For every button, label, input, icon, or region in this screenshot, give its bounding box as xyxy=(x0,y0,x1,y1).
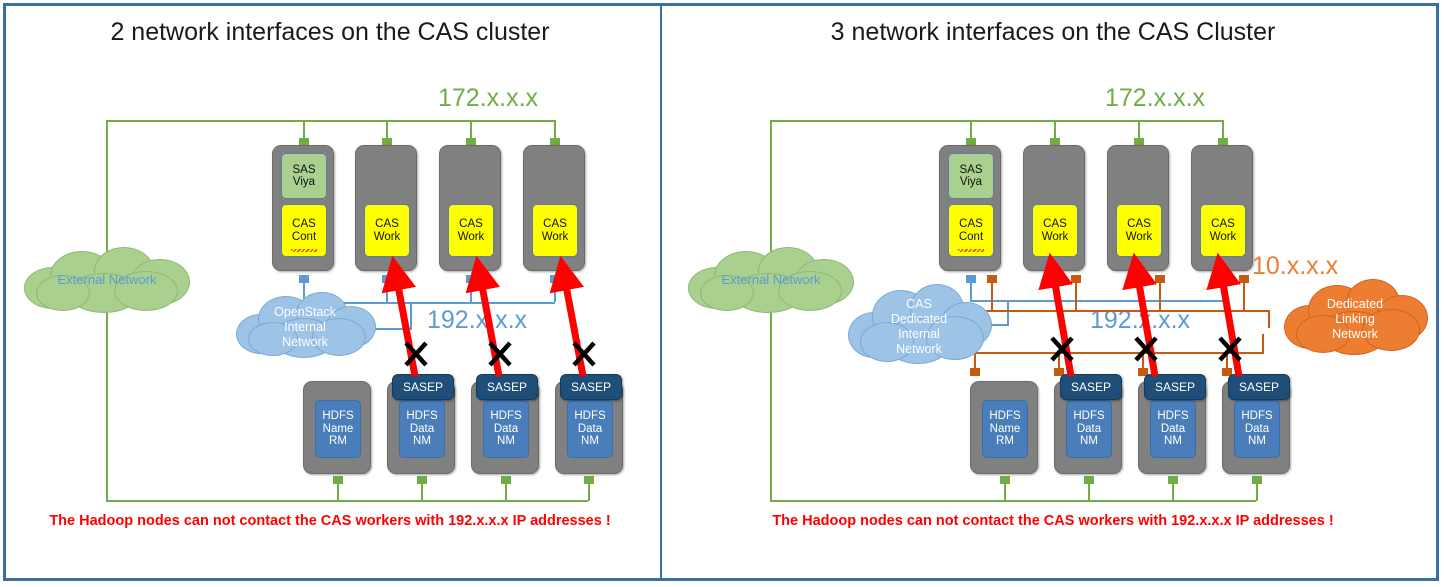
page-title-left: 2 network interfaces on the CAS cluster xyxy=(0,18,660,47)
orange-riser-cas-4 xyxy=(1243,283,1245,310)
sasep-tab-right-1[interactable]: SASEP xyxy=(1060,374,1122,400)
hdfs-data-chip-left-1: HDFS Data NM xyxy=(399,400,445,458)
dedicated-cloud-line: Network xyxy=(1332,327,1378,342)
dedicated-linking-network-cloud-right[interactable]: Dedicated Linking Network xyxy=(1282,277,1428,361)
green-arrow-up-h2-right xyxy=(1084,476,1094,484)
chip-line: Data xyxy=(578,423,602,436)
cas-worker-chip-right-1: CAS Work xyxy=(1032,204,1078,257)
chip-line: Work xyxy=(542,231,569,244)
hdfs-data-chip-right-3: HDFS Data NM xyxy=(1234,400,1280,458)
hdfs-namenode-left[interactable]: HDFS Name RM xyxy=(303,381,371,474)
block-x-icon-1-left xyxy=(406,343,426,365)
chip-line: HDFS xyxy=(322,410,353,423)
openstack-cloud-line: OpenStack xyxy=(274,305,336,320)
cas-worker-node-2-right[interactable]: CAS Work xyxy=(1107,145,1169,271)
chip-line: HDFS xyxy=(1157,410,1188,423)
green-bus-top-right xyxy=(770,120,1222,122)
green-riser-hadoop-2-right xyxy=(1088,484,1090,501)
green-riser-hadoop-2-left xyxy=(421,484,423,501)
orange-arrow-up-cas-3 xyxy=(1155,275,1165,283)
chip-line: Work xyxy=(374,231,401,244)
spellcheck-squiggle-icon xyxy=(291,249,317,252)
green-arrow-up-h4-right xyxy=(1252,476,1262,484)
blue-riser-3-left xyxy=(470,283,472,302)
blue-arrow-up-4-left xyxy=(550,275,560,283)
orange-riser-to-cloud-lower xyxy=(1262,334,1264,352)
chip-line: CAS xyxy=(1127,218,1151,231)
chip-line: NM xyxy=(497,435,515,448)
blue-arrow-up-2-right xyxy=(1050,275,1060,283)
orange-arrow-up-cas-2 xyxy=(1071,275,1081,283)
orange-riser-to-cloud-upper xyxy=(1268,310,1270,328)
sas-viya-chip-left: SAS Viya xyxy=(281,153,327,199)
cas-worker-chip-left-2: CAS Work xyxy=(448,204,494,257)
chip-line: HDFS xyxy=(574,410,605,423)
chip-line: NM xyxy=(1248,435,1266,448)
blue-riser-2-left xyxy=(386,283,388,302)
chip-line: NM xyxy=(581,435,599,448)
block-x-icon-2-left xyxy=(490,343,510,365)
chip-line: Data xyxy=(1077,423,1101,436)
chip-line: NM xyxy=(1164,435,1182,448)
chip-line: Data xyxy=(494,423,518,436)
hdfs-name-chip-left: HDFS Name RM xyxy=(315,400,361,458)
sas-viya-chip-right: SAS Viya xyxy=(948,153,994,199)
green-bus-bottom-left xyxy=(106,500,588,502)
chip-line: Data xyxy=(410,423,434,436)
cas-worker-chip-left-3: CAS Work xyxy=(532,204,578,257)
sasep-tab-right-2[interactable]: SASEP xyxy=(1144,374,1206,400)
cas-cloud-line: Internal xyxy=(898,327,940,342)
diagram-canvas: 2 network interfaces on the CAS cluster … xyxy=(0,0,1444,587)
chip-line: HDFS xyxy=(490,410,521,423)
green-arrow-up-h3-right xyxy=(1168,476,1178,484)
chip-line: NM xyxy=(413,435,431,448)
green-riser-hadoop-4-left xyxy=(588,484,590,501)
chip-line: Work xyxy=(1042,231,1069,244)
sasep-tab-left-3[interactable]: SASEP xyxy=(560,374,622,400)
green-riser-hadoop-3-right xyxy=(1172,484,1174,501)
blue-riser-4-right xyxy=(1222,283,1224,300)
orange-riser-cas-2 xyxy=(1075,283,1077,310)
cas-cloud-line: Dedicated xyxy=(891,312,947,327)
chip-line: CAS xyxy=(375,218,399,231)
block-x-icon-3-left xyxy=(574,343,594,365)
cas-worker-chip-left-1: CAS Work xyxy=(364,204,410,257)
cas-cloud-line: Network xyxy=(896,342,942,357)
cas-dedicated-internal-network-cloud-right[interactable]: CAS Dedicated Internal Network xyxy=(846,282,992,372)
blocked-arrow-3-left xyxy=(564,275,583,376)
chip-line: Viya xyxy=(960,176,982,189)
blue-arrow-up-3-left xyxy=(466,275,476,283)
network-label-172-right: 172.x.x.x xyxy=(1105,84,1205,113)
sasep-tab-right-3[interactable]: SASEP xyxy=(1228,374,1290,400)
orange-bus-lower-right xyxy=(974,352,1264,354)
network-label-172-left: 172.x.x.x xyxy=(438,84,538,113)
chip-line: HDFS xyxy=(989,410,1020,423)
sasep-tab-left-1[interactable]: SASEP xyxy=(392,374,454,400)
green-arrow-up-h3-left xyxy=(501,476,511,484)
green-riser-hadoop-4-right xyxy=(1256,484,1258,501)
cas-worker-node-2-left[interactable]: CAS Work xyxy=(439,145,501,271)
chip-line: Data xyxy=(1161,423,1185,436)
green-arrow-up-h2-left xyxy=(417,476,427,484)
cas-worker-chip-right-2: CAS Work xyxy=(1116,204,1162,257)
footnote-left: The Hadoop nodes can not contact the CAS… xyxy=(0,513,660,529)
external-network-label-left: External Network xyxy=(58,272,157,287)
external-network-label-right: External Network xyxy=(722,272,821,287)
cas-worker-node-3-right[interactable]: CAS Work xyxy=(1191,145,1253,271)
chip-line: Name xyxy=(990,423,1021,436)
orange-riser-cas-3 xyxy=(1159,283,1161,310)
block-x-icon-3-right xyxy=(1220,338,1240,360)
orange-arrow-up-cas-4 xyxy=(1239,275,1249,283)
sasep-tab-left-2[interactable]: SASEP xyxy=(476,374,538,400)
chip-line: CAS xyxy=(292,218,316,231)
chip-line: RM xyxy=(996,435,1014,448)
hdfs-namenode-right[interactable]: HDFS Name RM xyxy=(970,381,1038,474)
network-label-192-left: 192.x.x.x xyxy=(427,306,527,335)
blue-arrow-up-4-right xyxy=(1218,275,1228,283)
block-x-icon-1-right xyxy=(1052,338,1072,360)
cas-worker-node-1-left[interactable]: CAS Work xyxy=(355,145,417,271)
chip-line: Name xyxy=(323,423,354,436)
panel-three-interfaces: 3 network interfaces on the CAS Cluster … xyxy=(662,0,1444,587)
chip-line: HDFS xyxy=(406,410,437,423)
chip-line: HDFS xyxy=(1241,410,1272,423)
footnote-right: The Hadoop nodes can not contact the CAS… xyxy=(662,513,1444,529)
block-x-icon-2-right xyxy=(1136,338,1156,360)
green-arrow-up-h1-right xyxy=(1000,476,1010,484)
external-network-cloud-left[interactable]: External Network xyxy=(18,245,196,313)
hdfs-data-chip-left-3: HDFS Data NM xyxy=(567,400,613,458)
chip-line: CAS xyxy=(459,218,483,231)
chip-line: SAS xyxy=(959,164,982,177)
chip-line: CAS xyxy=(1043,218,1067,231)
blue-riser-4-left xyxy=(554,283,556,302)
chip-line: Work xyxy=(458,231,485,244)
green-bus-top-left xyxy=(106,120,556,122)
chip-line: NM xyxy=(1080,435,1098,448)
orange-bus-upper-right xyxy=(974,310,1268,312)
chip-line: SAS xyxy=(292,164,315,177)
green-riser-hadoop-1-left xyxy=(337,484,339,501)
blue-stub-v-left xyxy=(410,302,412,328)
external-network-cloud-right[interactable]: External Network xyxy=(682,245,860,313)
chip-line: Cont xyxy=(292,231,316,244)
cas-controller-chip-left: CAS Cont xyxy=(281,204,327,257)
green-riser-hadoop-1-right xyxy=(1004,484,1006,501)
blue-arrow-up-2-left xyxy=(382,275,392,283)
openstack-cloud-line: Internal xyxy=(284,320,326,335)
chip-line: RM xyxy=(329,435,347,448)
chip-line: Data xyxy=(1245,423,1269,436)
cas-worker-node-1-right[interactable]: CAS Work xyxy=(1023,145,1085,271)
cas-controller-node-left[interactable]: SAS Viya CAS Cont xyxy=(272,145,334,271)
green-bus-bottom-right xyxy=(770,500,1256,502)
cas-worker-node-3-left[interactable]: CAS Work xyxy=(523,145,585,271)
green-riser-hadoop-3-left xyxy=(505,484,507,501)
chip-line: Viya xyxy=(293,176,315,189)
blue-riser-2-right xyxy=(1054,283,1056,300)
hdfs-data-chip-right-2: HDFS Data NM xyxy=(1150,400,1196,458)
blue-stub-v-right xyxy=(1007,300,1009,324)
chip-line: CAS xyxy=(543,218,567,231)
dedicated-cloud-line: Linking xyxy=(1335,312,1375,327)
cas-cloud-line: CAS xyxy=(906,297,932,312)
blue-arrow-up-3-right xyxy=(1134,275,1144,283)
spellcheck-squiggle-icon xyxy=(958,249,984,252)
hdfs-name-chip-right: HDFS Name RM xyxy=(982,400,1028,458)
blocked-arrow-1-left xyxy=(396,275,415,376)
chip-line: CAS xyxy=(1211,218,1235,231)
openstack-cloud-line: Network xyxy=(282,335,328,350)
blue-arrow-up-1-left xyxy=(299,275,309,283)
openstack-internal-network-cloud-left[interactable]: OpenStack Internal Network xyxy=(234,288,376,366)
panel-two-interfaces: 2 network interfaces on the CAS cluster … xyxy=(0,0,660,587)
cas-controller-node-right[interactable]: SAS Viya CAS Cont xyxy=(939,145,1001,271)
blue-riser-3-right xyxy=(1138,283,1140,300)
chip-line: Cont xyxy=(959,231,983,244)
cas-worker-chip-right-3: CAS Work xyxy=(1200,204,1246,257)
hdfs-data-chip-right-1: HDFS Data NM xyxy=(1066,400,1112,458)
cas-controller-chip-right: CAS Cont xyxy=(948,204,994,257)
chip-line: Work xyxy=(1126,231,1153,244)
green-arrow-up-h4-left xyxy=(584,476,594,484)
chip-line: Work xyxy=(1210,231,1237,244)
chip-line: HDFS xyxy=(1073,410,1104,423)
chip-line: CAS xyxy=(959,218,983,231)
green-arrow-up-h1-left xyxy=(333,476,343,484)
hdfs-data-chip-left-2: HDFS Data NM xyxy=(483,400,529,458)
dedicated-cloud-line: Dedicated xyxy=(1327,297,1383,312)
page-title-right: 3 network interfaces on the CAS Cluster xyxy=(662,18,1444,47)
